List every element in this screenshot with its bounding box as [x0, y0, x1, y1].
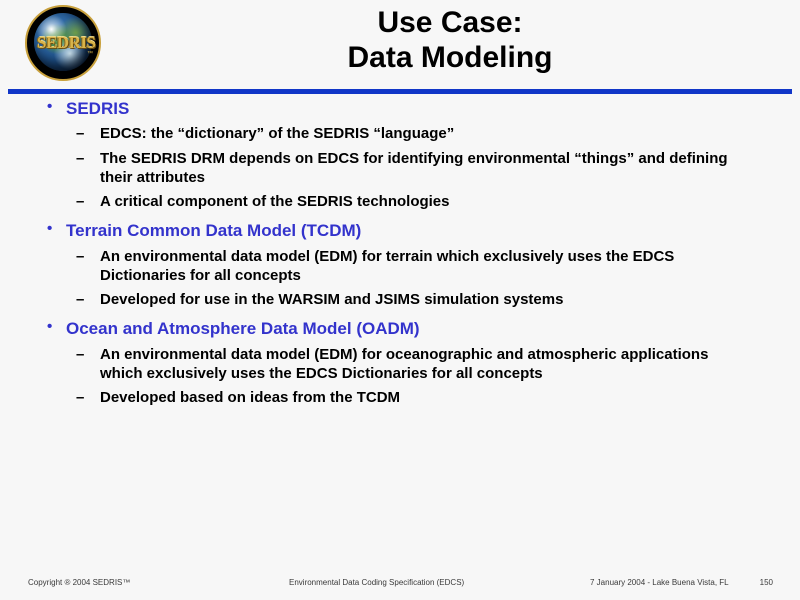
sub-bullet-item: – Developed based on ideas from the TCDM [0, 388, 800, 407]
dash-icon: – [76, 124, 84, 143]
footer-copyright: Copyright ® 2004 SEDRIS™ [28, 578, 130, 587]
sub-bullet-label: The SEDRIS DRM depends on EDCS for ident… [100, 150, 728, 186]
page-title-line-2: Data Modeling [120, 40, 780, 75]
footer-page-number: 150 [760, 578, 773, 587]
logo-circle: SEDRIS ™ [25, 5, 101, 81]
bullet-heading-label: SEDRIS [66, 99, 129, 118]
slide-content: • SEDRIS – EDCS: the “dictionary” of the… [0, 98, 800, 407]
logo-trademark-symbol: ™ [87, 51, 93, 57]
dash-icon: – [76, 290, 84, 309]
bullet-heading-label: Ocean and Atmosphere Data Model (OADM) [66, 319, 420, 338]
sub-bullet-label: Developed based on ideas from the TCDM [100, 389, 400, 406]
dash-icon: – [76, 388, 84, 407]
page-title-line-1: Use Case: [120, 5, 780, 40]
logo-wordmark: SEDRIS [37, 34, 95, 51]
dash-icon: – [76, 345, 84, 364]
sub-bullet-label: An environmental data model (EDM) for te… [100, 248, 674, 284]
sedris-logo: SEDRIS ™ [17, 4, 109, 82]
bullet-heading-label: Terrain Common Data Model (TCDM) [66, 221, 361, 240]
bullet-dot-icon: • [47, 98, 52, 117]
sub-bullet-label: EDCS: the “dictionary” of the SEDRIS “la… [100, 125, 454, 142]
dash-icon: – [76, 247, 84, 266]
dash-icon: – [76, 149, 84, 168]
sub-bullet-item: – An environmental data model (EDM) for … [0, 247, 800, 285]
footer-event-info: 7 January 2004 - Lake Buena Vista, FL [590, 578, 729, 587]
sub-bullet-label: An environmental data model (EDM) for oc… [100, 346, 708, 382]
bullet-dot-icon: • [47, 220, 52, 239]
sub-bullet-item: – EDCS: the “dictionary” of the SEDRIS “… [0, 124, 800, 143]
page-title: Use Case: Data Modeling [120, 5, 780, 76]
content-group: • Ocean and Atmosphere Data Model (OADM)… [0, 318, 800, 407]
title-divider [8, 89, 792, 94]
slide-footer: Copyright ® 2004 SEDRIS™ Environmental D… [0, 578, 800, 592]
sub-bullet-item: – A critical component of the SEDRIS tec… [0, 192, 800, 211]
footer-document-title: Environmental Data Coding Specification … [289, 578, 464, 587]
sub-bullet-item: – Developed for use in the WARSIM and JS… [0, 290, 800, 309]
content-group: • Terrain Common Data Model (TCDM) – An … [0, 220, 800, 309]
dash-icon: – [76, 192, 84, 211]
bullet-dot-icon: • [47, 318, 52, 337]
sub-bullet-label: A critical component of the SEDRIS techn… [100, 193, 450, 210]
slide-header: SEDRIS ™ Use Case: Data Modeling [0, 0, 800, 88]
bullet-heading: • Ocean and Atmosphere Data Model (OADM) [0, 318, 800, 339]
bullet-heading: • Terrain Common Data Model (TCDM) [0, 220, 800, 241]
sub-bullet-item: – An environmental data model (EDM) for … [0, 345, 800, 383]
bullet-heading: • SEDRIS [0, 98, 800, 119]
sub-bullet-item: – The SEDRIS DRM depends on EDCS for ide… [0, 149, 800, 187]
sub-bullet-label: Developed for use in the WARSIM and JSIM… [100, 291, 563, 308]
content-group: • SEDRIS – EDCS: the “dictionary” of the… [0, 98, 800, 211]
